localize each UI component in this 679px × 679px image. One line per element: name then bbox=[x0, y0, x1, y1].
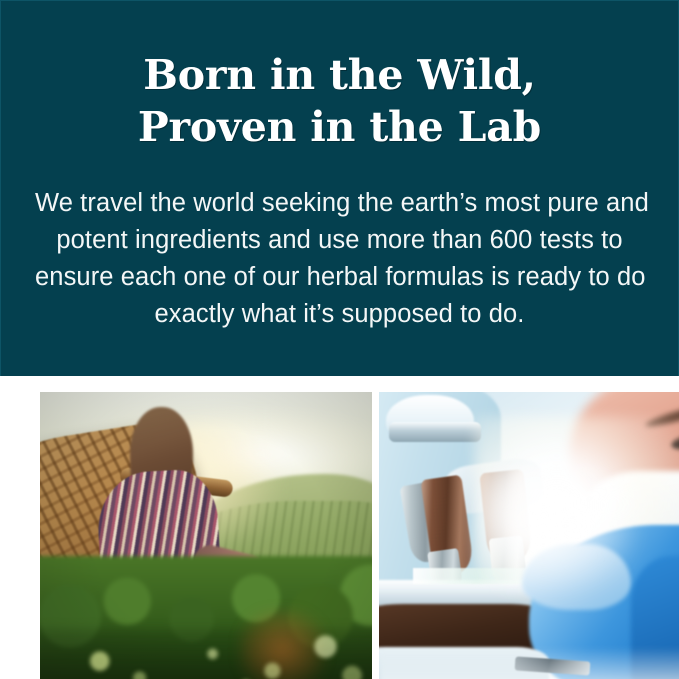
microscope-collar bbox=[389, 422, 481, 442]
subcopy-line-3: ensure each one of our herbal formulas i… bbox=[35, 259, 644, 296]
tea-harvest-photo bbox=[40, 392, 372, 679]
brand-description: We travel the world seeking the earth’s … bbox=[35, 185, 644, 333]
laboratory-photo-scene bbox=[379, 392, 679, 679]
photo-strip bbox=[0, 376, 679, 679]
product-feature-card: Born in the Wild, Proven in the Lab We t… bbox=[0, 0, 679, 679]
subcopy-line-1: We travel the world seeking the earth’s … bbox=[35, 185, 644, 222]
subcopy-line-2: potent ingredients and use more than 600… bbox=[35, 222, 644, 259]
bottom-light-falloff bbox=[379, 647, 679, 679]
headline-line-2: Proven in the Lab bbox=[1, 101, 678, 153]
page-title: Born in the Wild, Proven in the Lab bbox=[1, 49, 678, 153]
brand-message-panel: Born in the Wild, Proven in the Lab We t… bbox=[0, 0, 679, 376]
laboratory-microscope-photo bbox=[379, 392, 679, 679]
highlight-sheen bbox=[481, 465, 637, 598]
headline-line-1: Born in the Wild, bbox=[1, 49, 678, 101]
subcopy-line-4: exactly what it’s supposed to do. bbox=[35, 296, 644, 333]
tea-harvest-photo-scene bbox=[40, 392, 372, 679]
vignette bbox=[40, 392, 372, 679]
